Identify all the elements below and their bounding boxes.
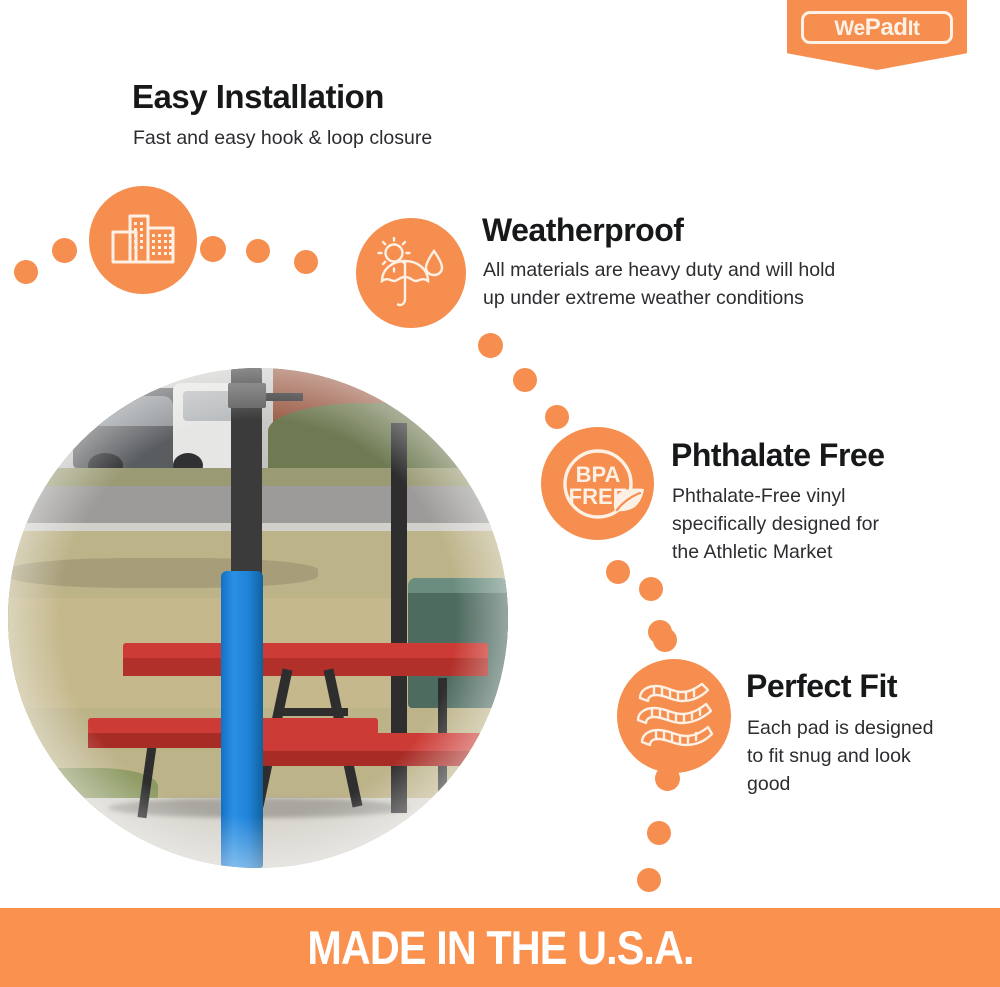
icon-building-circle [89,186,197,294]
made-in-usa-banner: MADE IN THE U.S.A. [0,908,1000,987]
logo-text-it: It [908,17,920,40]
icon-phthalate-free-circle: BPA FREE [541,427,654,540]
trail-dot [606,560,630,584]
pole-pad-photo [8,368,508,868]
feature-desc-perfect-fit-line2: to fit snug and look [747,744,911,770]
feature-desc-phthalate-free-line1: Phthalate-Free vinyl [672,484,845,510]
trail-dot [478,333,503,358]
logo-text: WePadIt [834,16,919,40]
trail-dot [647,821,671,845]
feature-desc-phthalate-free-line2: specifically designed for [672,512,879,538]
feature-title-weatherproof: Weatherproof [482,214,683,248]
trail-dot [653,628,677,652]
feature-title-easy-installation: Easy Installation [132,80,384,115]
trail-dot [200,236,226,262]
trail-dot [545,405,569,429]
trail-dot [655,766,680,791]
feature-desc-perfect-fit-line3: good [747,772,790,798]
trail-dot [246,239,270,263]
trail-dot [513,368,537,392]
logo-border-box: WePadIt [801,11,953,44]
trail-dot [637,868,661,892]
blue-pole-pad [221,571,264,869]
infographic-page: WePadIt Easy Installation Fast and easy … [0,0,1000,987]
feature-title-phthalate-free: Phthalate Free [671,439,885,473]
trail-dot [14,260,38,284]
feature-desc-easy-installation: Fast and easy hook & loop closure [133,126,553,152]
feature-desc-weatherproof-line2: up under extreme weather conditions [483,286,804,312]
made-in-usa-text: MADE IN THE U.S.A. [307,924,693,971]
trail-dot [294,250,318,274]
measuring-tape-icon [632,674,716,758]
icon-perfect-fit-circle [617,659,731,773]
icon-weatherproof-circle [356,218,466,328]
umbrella-sun-rain-icon [374,237,448,309]
trail-dot [52,238,77,263]
feature-desc-phthalate-free-line3: the Athletic Market [672,540,832,566]
logo-text-we: We [834,17,864,40]
bpa-free-leaf-icon: BPA FREE [548,434,648,534]
feature-desc-perfect-fit-line1: Each pad is designed [747,716,933,742]
logo-text-pad: Pad [865,14,908,41]
building-icon [110,212,176,268]
trail-dot [639,577,663,601]
brand-logo: WePadIt [787,0,967,70]
feature-desc-weatherproof-line1: All materials are heavy duty and will ho… [483,258,835,284]
feature-title-perfect-fit: Perfect Fit [746,670,897,704]
